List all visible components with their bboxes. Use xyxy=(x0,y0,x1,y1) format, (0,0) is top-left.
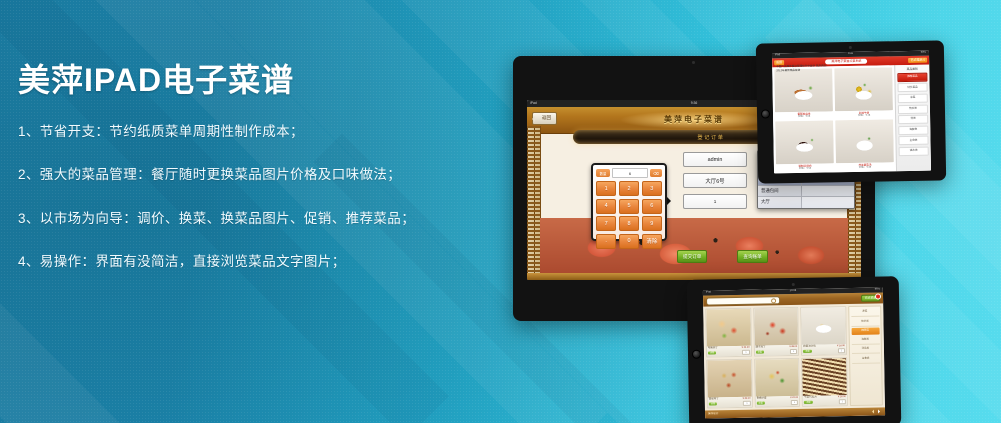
dish-photo xyxy=(834,67,893,111)
sidebar-item-special[interactable]: 特价菜品 xyxy=(898,83,928,93)
keypad-input-row: 数量 6 ⌫ xyxy=(596,168,662,178)
sidebar-item-recommended[interactable]: 推荐菜 xyxy=(851,328,879,335)
key-5[interactable]: 5 xyxy=(619,199,639,214)
status-carrier: iPad xyxy=(775,54,780,57)
ordered-dishes-button[interactable]: 已点菜品 0 xyxy=(909,58,928,63)
dropdown-area: 普通包间 xyxy=(758,186,802,197)
dish-photo xyxy=(835,119,894,163)
key-9[interactable]: 9 xyxy=(642,216,662,231)
back-button[interactable]: 返回 xyxy=(532,112,557,125)
key-clear[interactable]: 清除 xyxy=(642,234,662,249)
app-body: 本图片由美萍餐饮管理软件中提供 菜品供应。 2013年最新精品菜谱 香酥椒盐排 … xyxy=(772,65,931,174)
status-carrier: iPad xyxy=(706,292,711,295)
quantity-stepper[interactable]: 1 xyxy=(791,400,798,405)
keypad-keys: 1 2 3 4 5 6 7 8 9 . 0 清除 xyxy=(596,181,662,249)
dish-caption: 秘制红烧肉 价格：￥58 xyxy=(776,163,834,171)
promo-banner: 美萍IPAD电子菜谱 1、节省开支：节约纸质菜单周期性制作成本； 2、强大的菜品… xyxy=(0,0,1001,423)
dish-card[interactable]: 辣子鸡丁￥38.00 点菜1 xyxy=(753,307,800,357)
dish-name: 奶黄流沙包 xyxy=(803,345,816,348)
dish-caption: 香酥椒盐排 价格：￥68 xyxy=(775,111,833,119)
category-sidebar: 凉菜 热炒类 推荐菜 海鲜类 汤品类 主食类 xyxy=(848,305,883,406)
order-fields: admin 大厅6号 1 xyxy=(683,152,747,215)
dropdown-row[interactable]: 大厅 xyxy=(758,197,854,208)
dish-info: 咕咾肉丁￥32.00 点菜1 xyxy=(707,346,751,357)
status-battery: 96% xyxy=(875,289,880,292)
tablet-top-right-device: iPad 9:41 98% 返回 美萍电子菜谱点菜系统 已点菜品 0 本图片由美… xyxy=(756,40,946,183)
guest-count-field[interactable]: 1 xyxy=(683,194,747,209)
feature-item-1: 1、节省开支：节约纸质菜单周期性制作成本； xyxy=(18,125,448,139)
dish-price: ￥22.00 xyxy=(790,397,798,400)
dish-photo xyxy=(775,120,834,164)
query-bill-button[interactable]: 查询账单 xyxy=(737,250,767,263)
tablet-top-right-screen: iPad 9:41 98% 返回 美萍电子菜谱点菜系统 已点菜品 0 本图片由美… xyxy=(772,51,931,174)
dropdown-table xyxy=(802,186,854,197)
key-2[interactable]: 2 xyxy=(619,181,639,196)
sidebar-item-seafood[interactable]: 海鲜类 xyxy=(851,336,879,344)
sidebar-item-soup[interactable]: 汤品类 xyxy=(851,346,879,354)
sidebar-item-stirfry[interactable]: 热炒类 xyxy=(898,104,928,114)
dish-photo xyxy=(706,309,750,347)
dish-name: 辣子鸡丁 xyxy=(756,346,766,349)
home-button[interactable] xyxy=(761,109,770,118)
key-dot[interactable]: . xyxy=(596,234,616,249)
dish-price: ￥38.00 xyxy=(789,346,797,349)
order-actions: 提交订单 查询账单 xyxy=(677,250,768,263)
feature-list: 1、节省开支：节约纸质菜单周期性制作成本； 2、强大的菜品管理：餐厅随时更换菜品… xyxy=(18,125,448,269)
feature-item-4: 4、易操作：界面有没简洁，直接浏览菜品文字图片； xyxy=(18,255,448,269)
status-time: 9:36 xyxy=(691,102,698,105)
dish-name: 宫保鸡丁 xyxy=(709,398,719,401)
dish-name: 咕咾肉丁 xyxy=(708,347,718,350)
quantity-stepper[interactable]: 1 xyxy=(743,401,750,406)
dish-card[interactable]: 养生菌菇汤 价格：￥38 xyxy=(835,119,894,170)
dish-price: ￥28.00 xyxy=(837,396,845,399)
feature-item-2: 2、强大的菜品管理：餐厅随时更换菜品图片价格及口味做法； xyxy=(18,168,448,182)
dish-grid: 咕咾肉丁￥32.00 点菜1 辣子鸡丁￥38.00 点菜1 xyxy=(705,306,848,408)
camera-icon xyxy=(849,46,852,49)
dish-caption: 养生菌菇汤 价格：￥38 xyxy=(836,162,894,170)
dish-info: 奶黄流沙包￥18.00 点菜1 xyxy=(802,344,846,355)
key-6[interactable]: 6 xyxy=(642,199,662,214)
tablet-bottom-right-screen: iPad 10:08 96% 已点菜品 xyxy=(703,287,885,418)
status-battery: 98% xyxy=(921,52,926,55)
status-time: 10:08 xyxy=(790,290,797,293)
dish-name: 千层巧克力 xyxy=(804,396,817,399)
dish-name: 青椒炒蛋 xyxy=(756,397,766,400)
app-footer: 美萍软件 xyxy=(705,407,885,418)
dish-card[interactable]: 宫保鸡丁￥36.00 点菜1 xyxy=(706,359,753,409)
sidebar-item-drinks[interactable]: 酒水类 xyxy=(899,147,929,157)
keypad-display[interactable]: 6 xyxy=(612,168,648,178)
page-title: 美萍IPAD电子菜谱 xyxy=(18,62,448,99)
dish-card[interactable]: 咕咾肉丁￥32.00 点菜1 xyxy=(705,308,752,358)
dish-price: 价格：￥58 xyxy=(799,167,811,170)
dish-price: 价格：￥38 xyxy=(859,166,871,169)
dish-price: 价格：￥48 xyxy=(858,114,870,117)
section-title: 登记订单 xyxy=(697,134,724,141)
feature-item-3: 3、以市场为向导：调价、换菜、换菜品图片、促销、推荐菜品； xyxy=(18,212,448,226)
quantity-stepper[interactable]: 1 xyxy=(838,348,845,353)
sidebar-item-cold[interactable]: 凉菜 xyxy=(851,309,879,317)
dropdown-area: 大厅 xyxy=(758,197,802,208)
sidebar-item-staple[interactable]: 主食类 xyxy=(898,136,928,146)
camera-icon xyxy=(692,61,695,64)
dropdown-row[interactable]: 普通包间 xyxy=(758,186,854,198)
add-to-cart-button[interactable]: 点菜 xyxy=(756,351,764,354)
submit-order-button[interactable]: 提交订单 xyxy=(677,250,707,263)
sidebar-item-seafood[interactable]: 海鲜类 xyxy=(898,125,928,135)
dish-caption: 彩椒牛柳 价格：￥48 xyxy=(835,110,893,118)
dish-card[interactable]: 秘制红烧肉 价格：￥58 xyxy=(775,120,834,171)
app-body: 咕咾肉丁￥32.00 点菜1 辣子鸡丁￥38.00 点菜1 xyxy=(703,303,885,410)
cart-button[interactable]: 已点菜品 xyxy=(861,295,880,302)
dish-photo xyxy=(754,308,798,346)
quantity-stepper[interactable]: 1 xyxy=(839,399,846,404)
dish-info: 宫保鸡丁￥36.00 点菜1 xyxy=(708,397,752,408)
cart-badge xyxy=(875,294,881,300)
dish-info: 辣子鸡丁￥38.00 点菜1 xyxy=(755,345,799,356)
header-spacer xyxy=(783,298,858,299)
dish-price: ￥36.00 xyxy=(742,397,750,400)
key-7[interactable]: 7 xyxy=(596,216,616,231)
dish-photo xyxy=(802,307,846,345)
operator-field[interactable]: admin xyxy=(683,152,747,167)
dropdown-table xyxy=(802,197,854,208)
search-input[interactable] xyxy=(706,296,780,305)
sidebar-item-staple[interactable]: 主食类 xyxy=(852,355,880,363)
category-sidebar: 菜品类别 推荐菜品 特价菜品 凉菜 热炒类 汤类 海鲜类 主食类 酒水类 xyxy=(894,65,931,172)
key-3[interactable]: 3 xyxy=(642,181,662,196)
backspace-icon[interactable]: ⌫ xyxy=(650,169,662,177)
next-page-icon[interactable] xyxy=(878,409,882,413)
app-title: 美萍电子菜谱 xyxy=(664,114,724,125)
dish-card[interactable]: 奶黄流沙包￥18.00 点菜1 xyxy=(801,306,848,356)
key-8[interactable]: 8 xyxy=(619,216,639,231)
key-4[interactable]: 4 xyxy=(596,199,616,214)
sidebar-item-cold[interactable]: 凉菜 xyxy=(898,94,928,104)
search-icon xyxy=(771,298,776,303)
dish-price: ￥18.00 xyxy=(836,345,844,348)
prev-page-icon[interactable] xyxy=(870,410,874,414)
dish-card[interactable]: 彩椒牛柳 价格：￥48 xyxy=(834,67,893,118)
add-to-cart-button[interactable]: 点菜 xyxy=(803,350,811,353)
dish-ordering-app: iPad 10:08 96% 已点菜品 xyxy=(703,287,885,418)
dish-browser-app: iPad 9:41 98% 返回 美萍电子菜谱点菜系统 已点菜品 0 本图片由美… xyxy=(772,51,931,174)
dish-price: ￥32.00 xyxy=(741,346,749,349)
dish-info: 千层巧克力￥28.00 点菜1 xyxy=(803,395,847,406)
dish-card[interactable]: 青椒炒蛋￥22.00 点菜1 xyxy=(754,358,801,408)
dish-info: 青椒炒蛋￥22.00 点菜1 xyxy=(755,396,799,407)
key-0[interactable]: 0 xyxy=(619,234,639,249)
status-time: 9:41 xyxy=(848,53,853,56)
dish-card[interactable]: 千层巧克力￥28.00 点菜1 xyxy=(801,357,848,407)
numeric-keypad[interactable]: 数量 6 ⌫ 1 2 3 4 5 6 7 8 9 . xyxy=(591,163,667,241)
dish-card[interactable]: 香酥椒盐排 价格：￥68 xyxy=(774,68,833,119)
keypad-label: 数量 xyxy=(596,169,610,177)
add-to-cart-button[interactable]: 点菜 xyxy=(804,401,812,404)
add-to-cart-button[interactable]: 点菜 xyxy=(709,402,717,405)
sidebar-item-stirfry[interactable]: 热炒类 xyxy=(851,318,879,326)
dish-grid: 本图片由美萍餐饮管理软件中提供 菜品供应。 2013年最新精品菜谱 香酥椒盐排 … xyxy=(772,65,896,173)
table-field[interactable]: 大厅6号 xyxy=(683,173,747,188)
dish-photo xyxy=(774,68,833,112)
hero-copy: 美萍IPAD电子菜谱 1、节省开支：节约纸质菜单周期性制作成本； 2、强大的菜品… xyxy=(18,62,448,299)
dish-photo xyxy=(802,358,846,396)
quantity-stepper[interactable]: 1 xyxy=(742,350,749,355)
home-button[interactable] xyxy=(692,350,701,359)
camera-icon xyxy=(792,283,795,286)
food-photo-salmon xyxy=(540,218,848,280)
status-carrier: iPad xyxy=(530,102,537,105)
footer-brand: 美萍软件 xyxy=(708,413,718,416)
dish-photo xyxy=(755,359,799,397)
add-to-cart-button[interactable]: 点菜 xyxy=(708,351,716,354)
quantity-stepper[interactable]: 1 xyxy=(790,349,797,354)
add-to-cart-button[interactable]: 点菜 xyxy=(757,402,765,405)
key-1[interactable]: 1 xyxy=(596,181,616,196)
pagination-nav xyxy=(870,409,882,413)
promo-note: 本图片由美萍餐饮管理软件中提供 菜品供应。 2013年最新精品菜谱 xyxy=(776,64,852,73)
greek-key-border-left xyxy=(527,126,541,280)
dish-price: 价格：￥68 xyxy=(798,115,810,118)
sidebar-item-recommended[interactable]: 推荐菜品 xyxy=(897,72,927,82)
dish-photo xyxy=(707,360,751,398)
cursor-pointer-icon xyxy=(666,196,676,206)
sidebar-item-soup[interactable]: 汤类 xyxy=(898,115,928,125)
tablet-bottom-right-device: iPad 10:08 96% 已点菜品 xyxy=(687,276,902,423)
